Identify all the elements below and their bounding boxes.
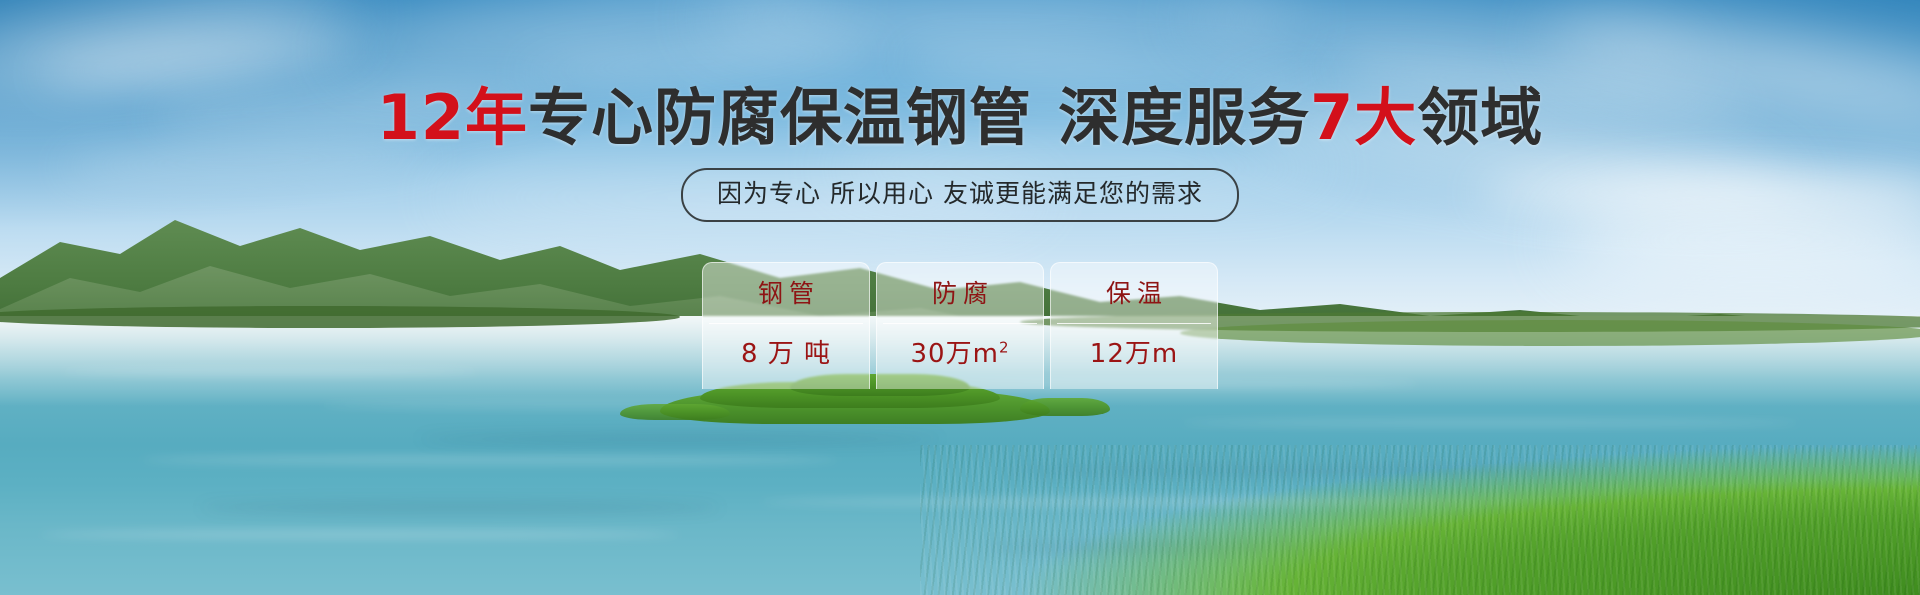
stat-card-value: 12万m xyxy=(1057,324,1211,371)
stat-card-label: 防腐 xyxy=(883,277,1037,324)
stat-card-value-superscript: 2 xyxy=(999,338,1010,356)
headline-main: 专心防腐保温钢管 xyxy=(528,81,1032,154)
stat-card-value: 30万m2 xyxy=(883,324,1037,371)
headline-years: 12年 xyxy=(377,81,528,154)
headline-fields: 领域 xyxy=(1417,81,1543,154)
banner-subtitle-wrap: 因为专心 所以用心 友诚更能满足您的需求 xyxy=(0,168,1920,222)
stat-card-insulation[interactable]: 保温 12万m xyxy=(1050,262,1218,389)
banner-subtitle: 因为专心 所以用心 友诚更能满足您的需求 xyxy=(681,168,1239,222)
hero-banner: 12年专心防腐保温钢管深度服务7大领域 因为专心 所以用心 友诚更能满足您的需求… xyxy=(0,0,1920,595)
stat-card-group: 钢管 8 万 吨 防腐 30万m2 保温 12万m xyxy=(0,262,1920,389)
stat-card-steel-pipe[interactable]: 钢管 8 万 吨 xyxy=(702,262,870,389)
stat-card-value-main: 30万m xyxy=(911,339,999,369)
stat-card-label: 保温 xyxy=(1057,277,1211,324)
stat-card-label: 钢管 xyxy=(709,277,863,324)
headline-service: 深度服务 xyxy=(1058,81,1310,154)
stat-card-value-main: 12万m xyxy=(1090,339,1178,369)
stat-card-value: 8 万 吨 xyxy=(709,324,863,371)
grass-texture xyxy=(920,445,1920,595)
headline-seven: 7大 xyxy=(1310,81,1417,154)
stat-card-value-main: 8 万 吨 xyxy=(741,339,831,369)
stat-card-anticorrosion[interactable]: 防腐 30万m2 xyxy=(876,262,1044,389)
banner-headline: 12年专心防腐保温钢管深度服务7大领域 xyxy=(0,82,1920,154)
